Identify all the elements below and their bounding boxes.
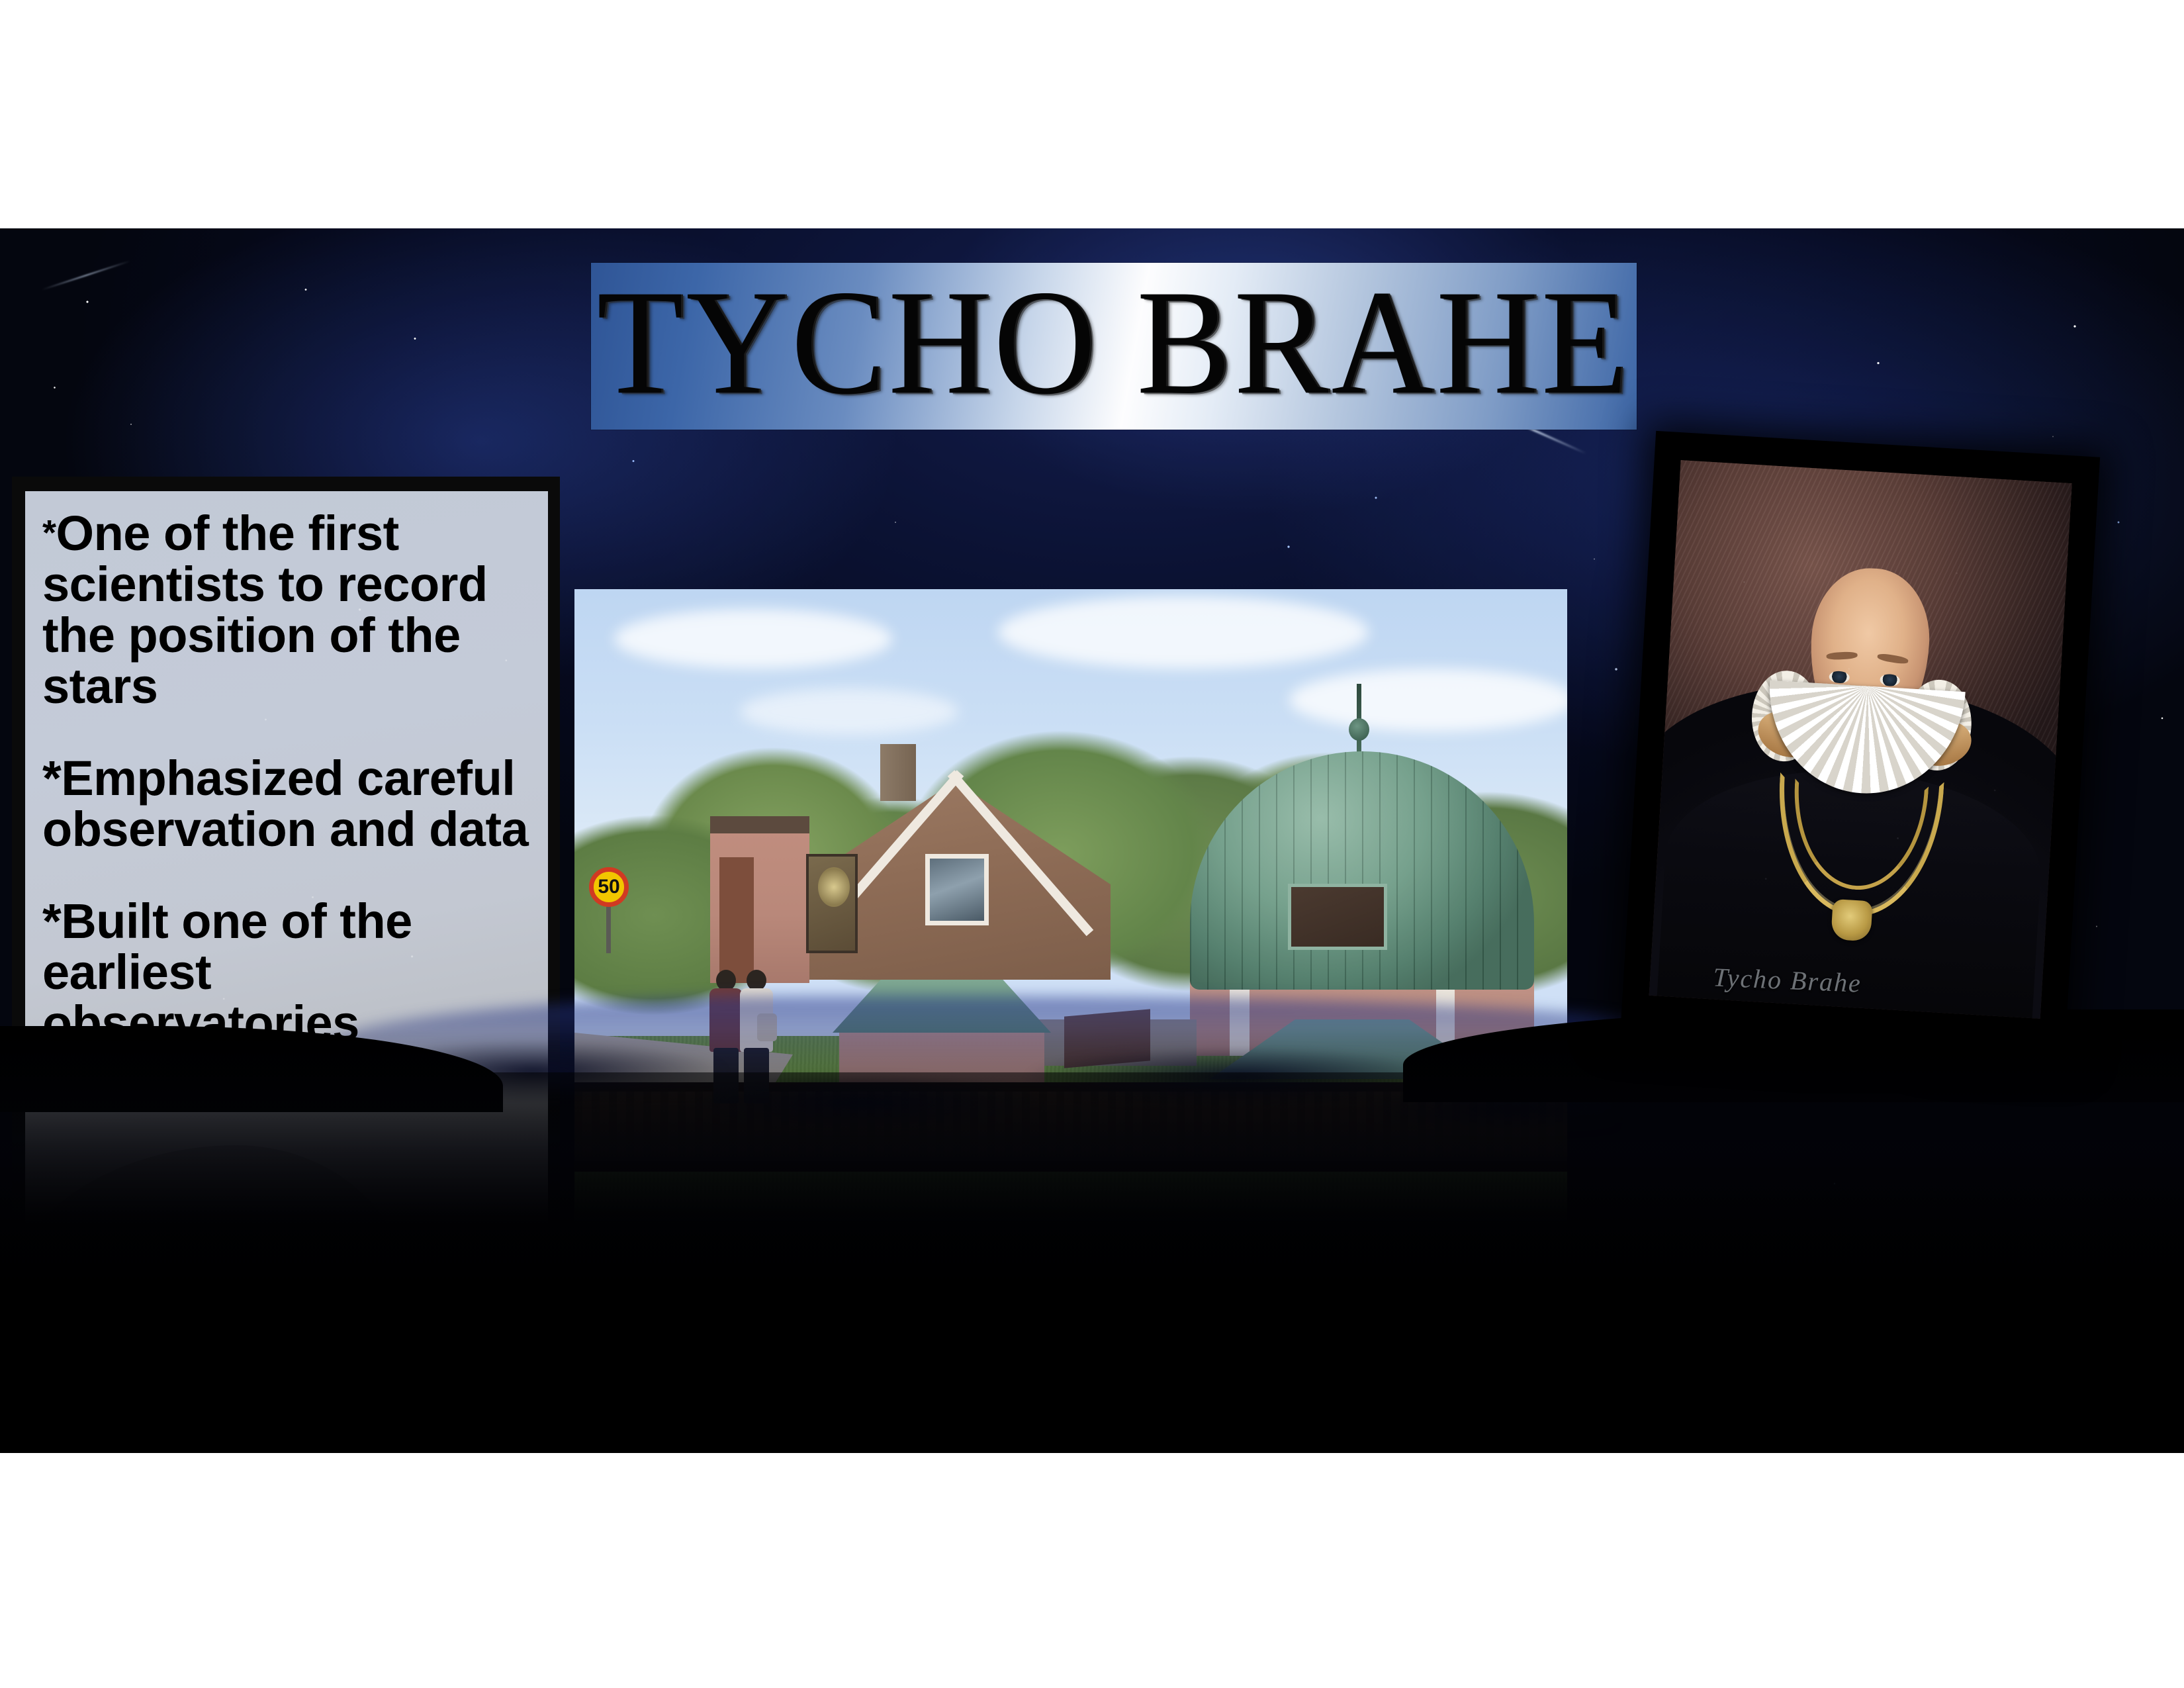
portrait-frame: Tycho Brahe <box>1621 431 2100 1052</box>
portrait-painting: Tycho Brahe <box>1649 460 2072 1019</box>
doorway <box>719 857 754 983</box>
sign-post <box>606 906 611 953</box>
slide-canvas: TYCHO BRAHE *One of the first scientists… <box>0 228 2184 1453</box>
portrait-inscription: Tycho Brahe <box>1712 961 1862 998</box>
information-plaque <box>806 854 858 953</box>
cloud <box>998 596 1369 669</box>
chimney <box>880 744 916 801</box>
page-title: TYCHO BRAHE <box>597 267 1631 425</box>
bullet-marker: * <box>42 751 61 806</box>
dome-observation-hatch <box>1288 884 1387 950</box>
dome-spire-icon <box>1357 684 1361 762</box>
speed-limit-sign: 50 <box>589 867 629 907</box>
stucco-wall <box>710 831 809 983</box>
list-item: *Built one of the earliest observatories <box>42 896 533 1049</box>
bullet-marker: * <box>42 513 56 553</box>
cloud <box>614 609 892 669</box>
gold-medallion <box>1831 899 1873 941</box>
bullet-marker: * <box>42 894 61 949</box>
copper-dome <box>1190 712 1534 990</box>
horizon-fade <box>0 1029 2184 1453</box>
list-item: *Emphasized careful observation and data <box>42 753 533 855</box>
house-window <box>925 854 989 925</box>
bullet-text: Emphasized careful observation and data <box>42 751 528 857</box>
bullet-text: One of the first scientists to record th… <box>42 506 488 714</box>
title-banner: TYCHO BRAHE <box>591 263 1637 430</box>
bullet-text: Built one of the earliest observatories <box>42 894 412 1051</box>
dome-cap <box>1190 751 1534 990</box>
list-item: *One of the first scientists to record t… <box>42 508 533 712</box>
